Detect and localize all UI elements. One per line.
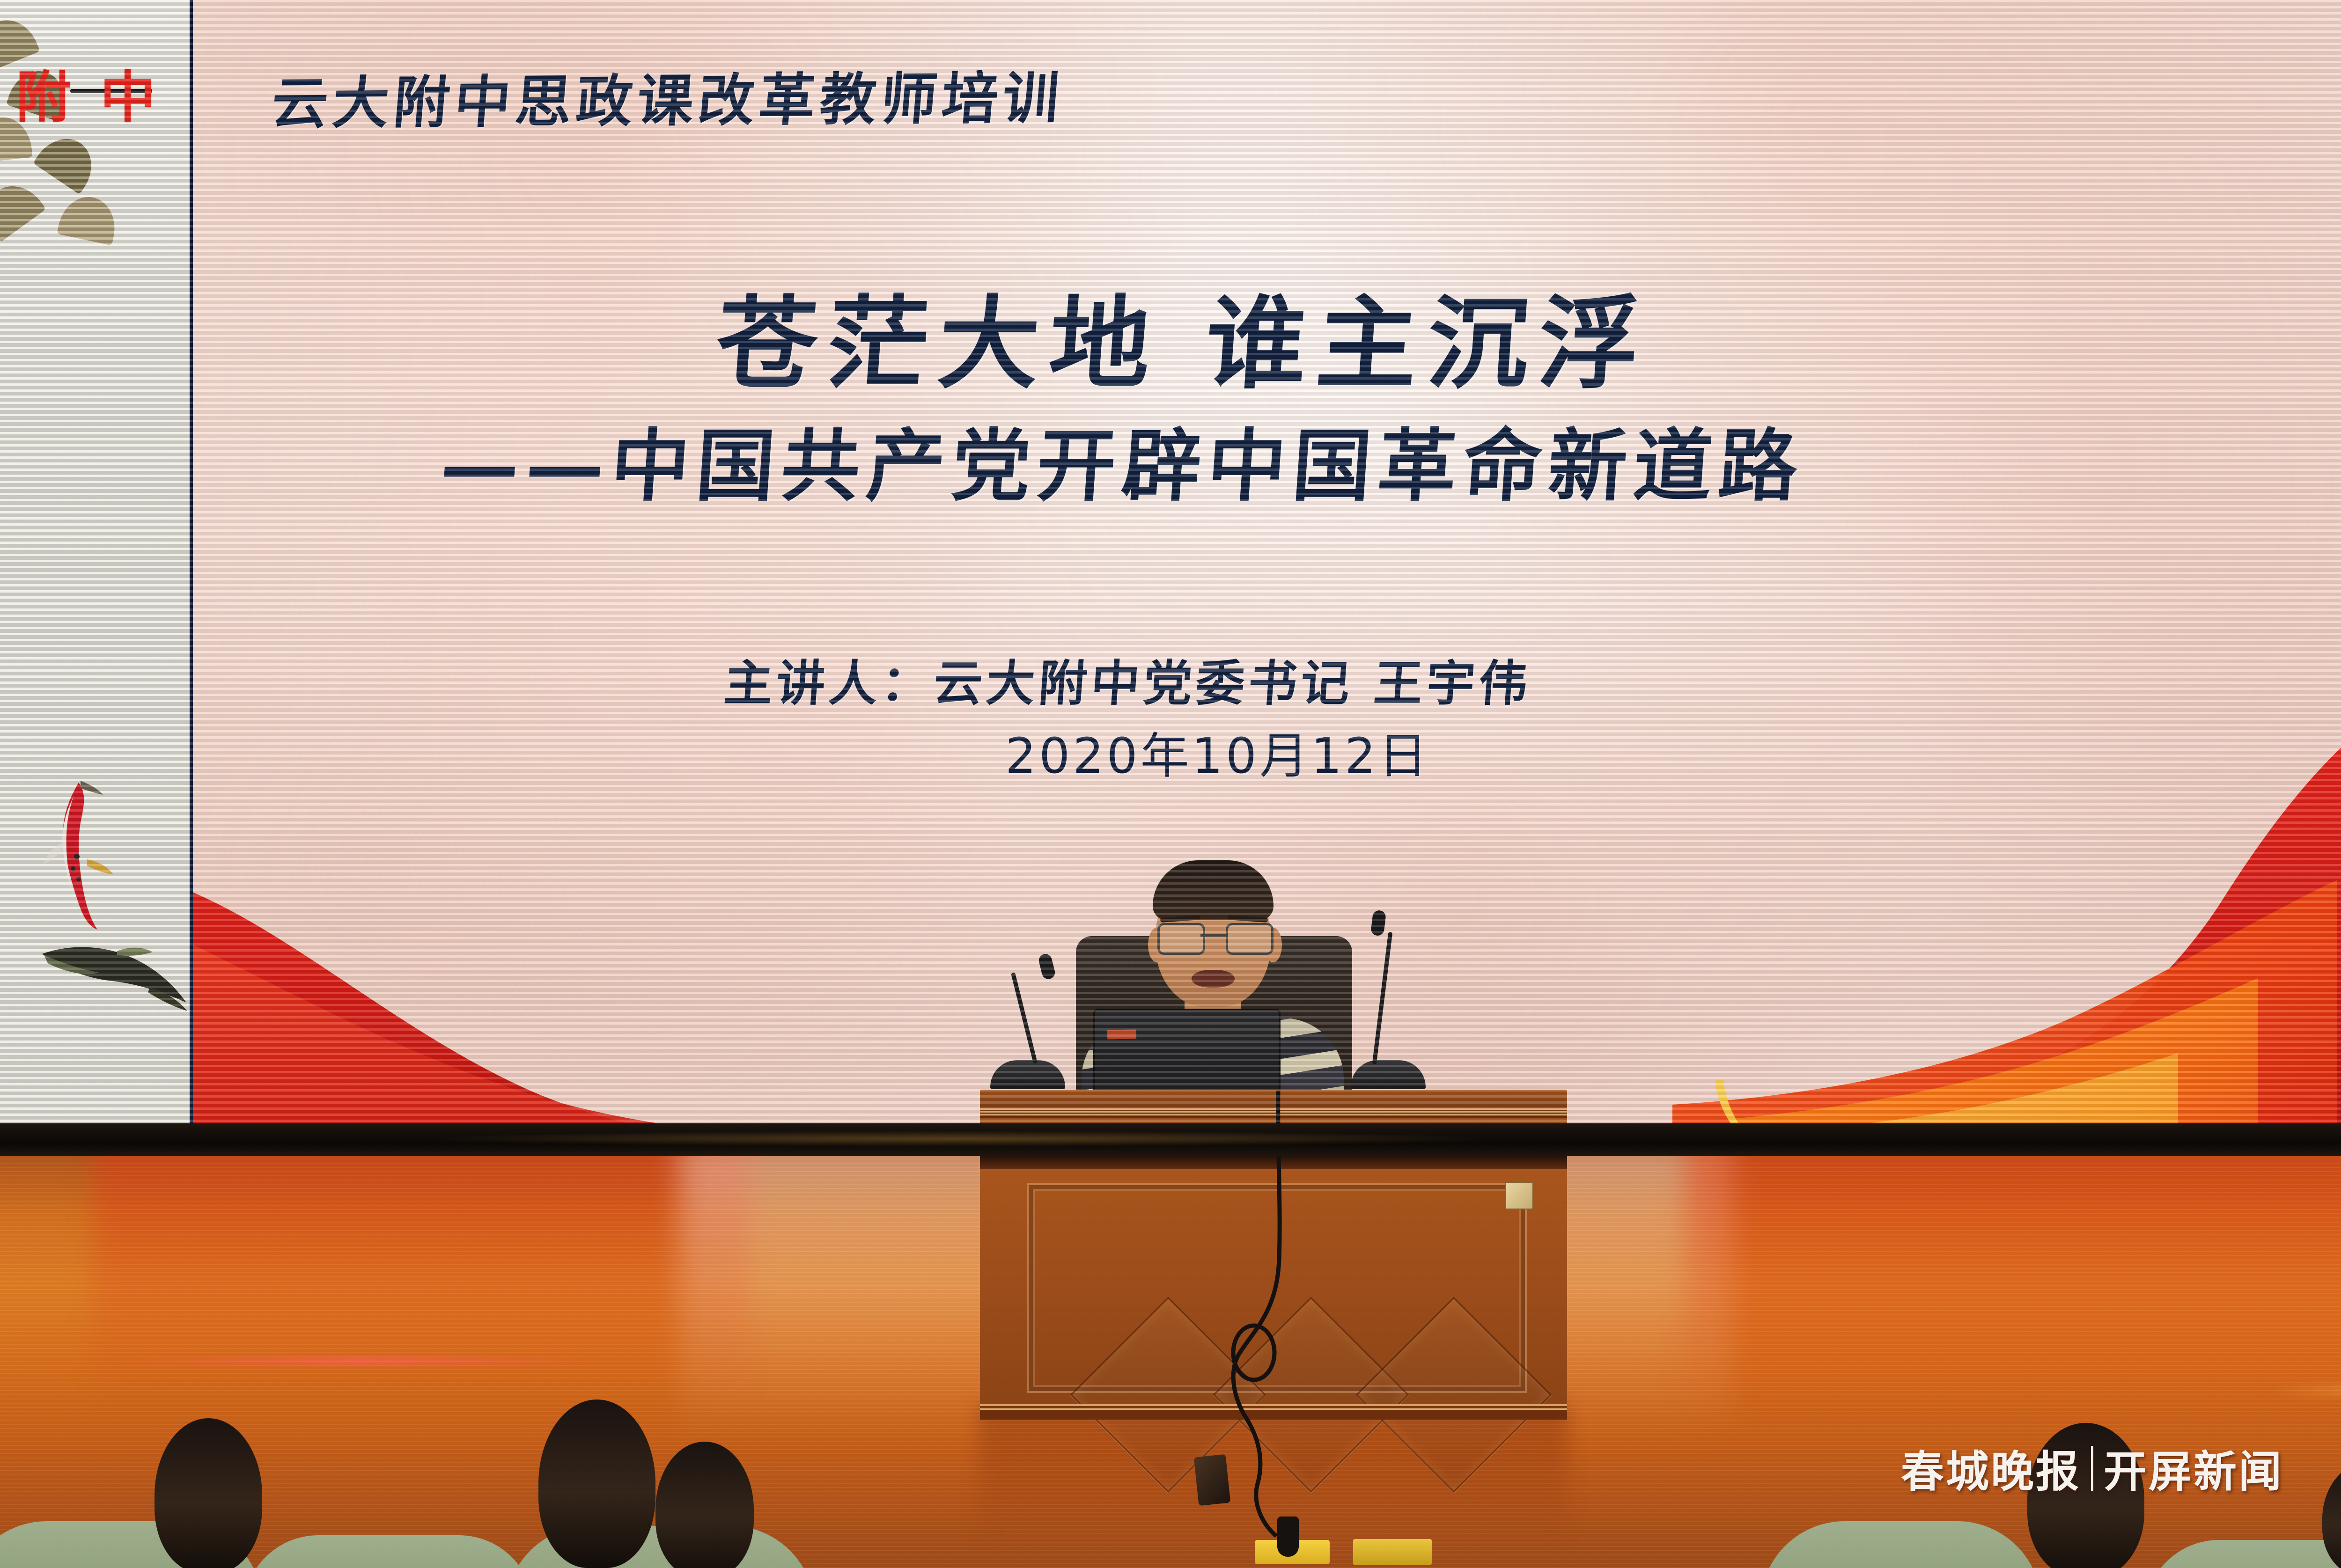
ginkgo-leaf-icon bbox=[33, 127, 103, 194]
presenter-mouth bbox=[1192, 970, 1235, 988]
floor-tape-marker bbox=[1353, 1539, 1432, 1565]
glasses-lens-left bbox=[1157, 923, 1205, 955]
presenter-hair bbox=[1153, 860, 1274, 920]
school-mark-label: 附中 bbox=[16, 52, 184, 132]
decor-panel-left: 附中 bbox=[0, 0, 191, 1147]
slide-kicker: 云大附中思政课改革教师培训 bbox=[269, 52, 1067, 139]
watermark: 春城晚报 开屏新闻 bbox=[1901, 1437, 2283, 1499]
ginkgo-leaf-icon bbox=[0, 174, 46, 242]
cable-junction-box bbox=[1194, 1454, 1230, 1506]
glasses-bridge bbox=[1200, 934, 1227, 937]
koi-fish-red-icon bbox=[28, 777, 126, 931]
slide-speaker: 主讲人：云大附中党委书记 王宇伟 bbox=[722, 644, 1534, 714]
watermark-sub-brand: 开屏新闻 bbox=[2104, 1437, 2283, 1499]
led-wall-bottom-frame bbox=[0, 1123, 2341, 1156]
screenshot-root: 云大附中思政课改革教师培训 苍茫大地 谁主沉浮 ——中国共产党开辟中国革命新道路… bbox=[0, 0, 2341, 1568]
glasses-lens-right bbox=[1226, 923, 1274, 955]
watermark-brand: 春城晚报 bbox=[1901, 1437, 2081, 1499]
screen-seam-left bbox=[190, 0, 193, 1147]
laptop-logo bbox=[1107, 1029, 1136, 1039]
koi-fish-dark-icon bbox=[37, 917, 191, 1025]
slide-title: 苍茫大地 谁主沉浮 bbox=[712, 262, 1656, 408]
cable-plug bbox=[1277, 1517, 1299, 1557]
audience-head bbox=[655, 1442, 754, 1568]
podium-plaque bbox=[1505, 1182, 1533, 1209]
audience-head bbox=[155, 1418, 262, 1568]
slide-subtitle: ——中国共产党开辟中国革命新道路 bbox=[437, 403, 1809, 516]
chevron-left-icon bbox=[2332, 1002, 2341, 1062]
watermark-divider bbox=[2091, 1446, 2093, 1491]
audience-head bbox=[538, 1399, 655, 1568]
glasses-icon bbox=[1156, 923, 1272, 952]
ginkgo-leaf-icon bbox=[57, 192, 121, 246]
slide-date: 2020年10月12日 bbox=[1005, 716, 1430, 787]
